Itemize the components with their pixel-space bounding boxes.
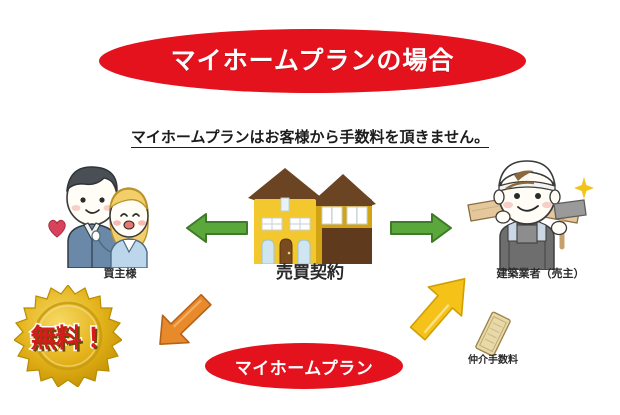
couple-buyers-illustration: [48, 156, 160, 268]
free-badge-label: 無料！: [14, 285, 122, 387]
contract-label: 売買契約: [245, 264, 375, 283]
diagram-canvas: マイホームプランの場合 マイホームプランはお客様から手数料を頂きません。: [0, 0, 620, 415]
arrow-buyer-to-plan: [148, 288, 218, 356]
house-illustration: [244, 166, 376, 264]
carpenter-builder-illustration: [462, 155, 592, 270]
subtitle-text: マイホームプランはお客様から手数料を頂きません。: [131, 129, 489, 148]
plan-pill-label: マイホームプラン: [235, 354, 373, 379]
free-badge: 無料！: [14, 285, 122, 387]
seller-label: 建築業者（売主）: [478, 268, 603, 280]
brokerage-fee-node: [470, 310, 516, 358]
buyer-label: 買主様: [60, 268, 180, 280]
plan-pill: マイホームプラン: [205, 343, 403, 389]
heart-icon: [46, 218, 68, 238]
money-bill-icon: [470, 310, 516, 358]
arrow-contract-to-seller: [390, 211, 452, 245]
contract-node: [244, 166, 376, 264]
sparkle-icon: [574, 177, 594, 199]
seller-node: [462, 155, 592, 270]
brokerage-fee-label: 仲介手数料: [443, 355, 543, 366]
buyer-node: [48, 156, 160, 268]
subtitle-row: マイホームプランはお客様から手数料を頂きません。: [0, 126, 620, 147]
arrow-contract-to-buyer: [186, 211, 248, 245]
page-title: マイホームプランの場合: [171, 49, 455, 74]
title-banner: マイホームプランの場合: [99, 29, 526, 93]
